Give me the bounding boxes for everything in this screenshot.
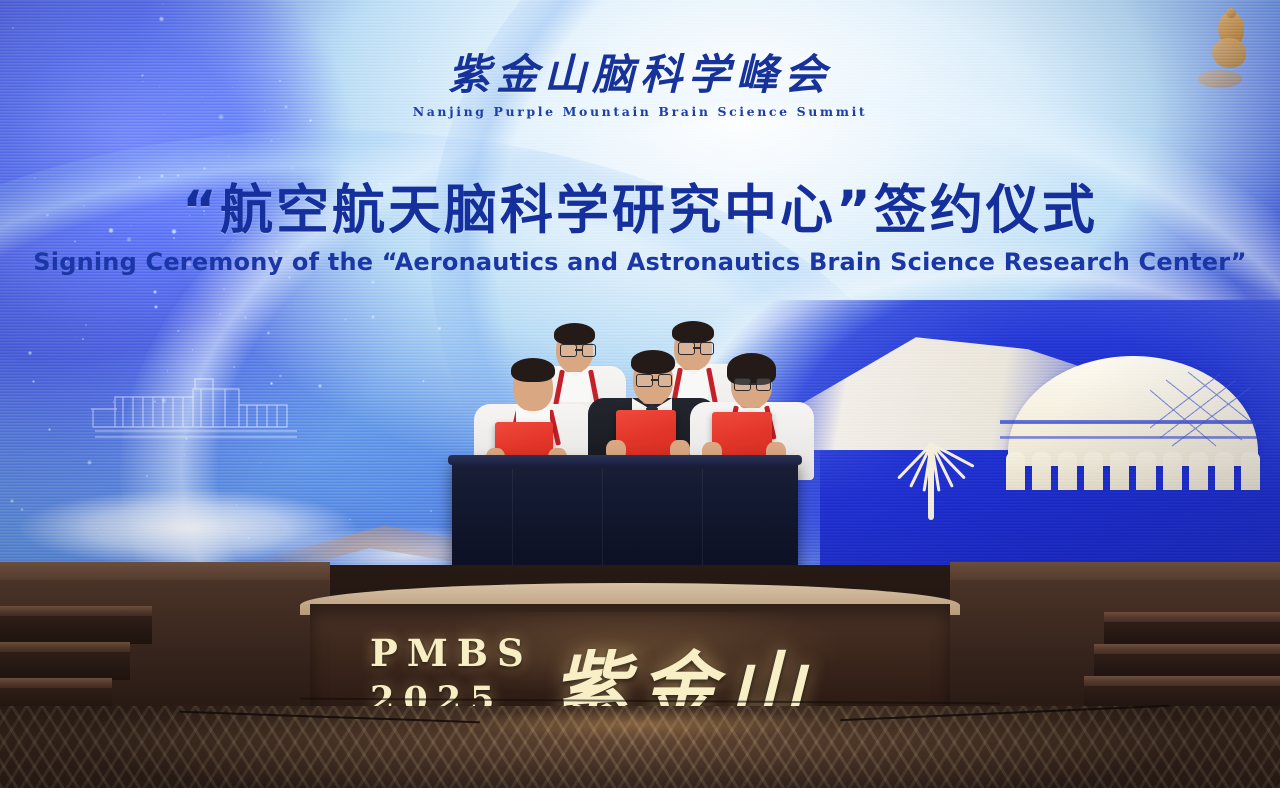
summit-logo-chinese: 紫金山脑科学峰会 (0, 54, 1280, 96)
line-art-building-icon (85, 375, 305, 465)
floor-light-spill (380, 700, 900, 748)
summit-logo: 紫金山脑科学峰会 Nanjing Purple Mountain Brain S… (0, 54, 1280, 119)
platform-acronym-line1: PMBS (370, 634, 533, 673)
fan-tower-icon (880, 400, 1000, 520)
summit-logo-english: Nanjing Purple Mountain Brain Science Su… (0, 104, 1280, 119)
ceremony-title-chinese: “航空航天脑科学研究中心”签约仪式 (0, 168, 1280, 244)
ceremony-title-english: Signing Ceremony of the “Aeronautics and… (0, 248, 1280, 276)
glasses-icon (636, 374, 670, 386)
glasses-icon (734, 378, 769, 390)
dome-stadium-icon (1000, 340, 1270, 500)
stage-photo: 紫金山脑科学峰会 Nanjing Purple Mountain Brain S… (0, 0, 1280, 788)
